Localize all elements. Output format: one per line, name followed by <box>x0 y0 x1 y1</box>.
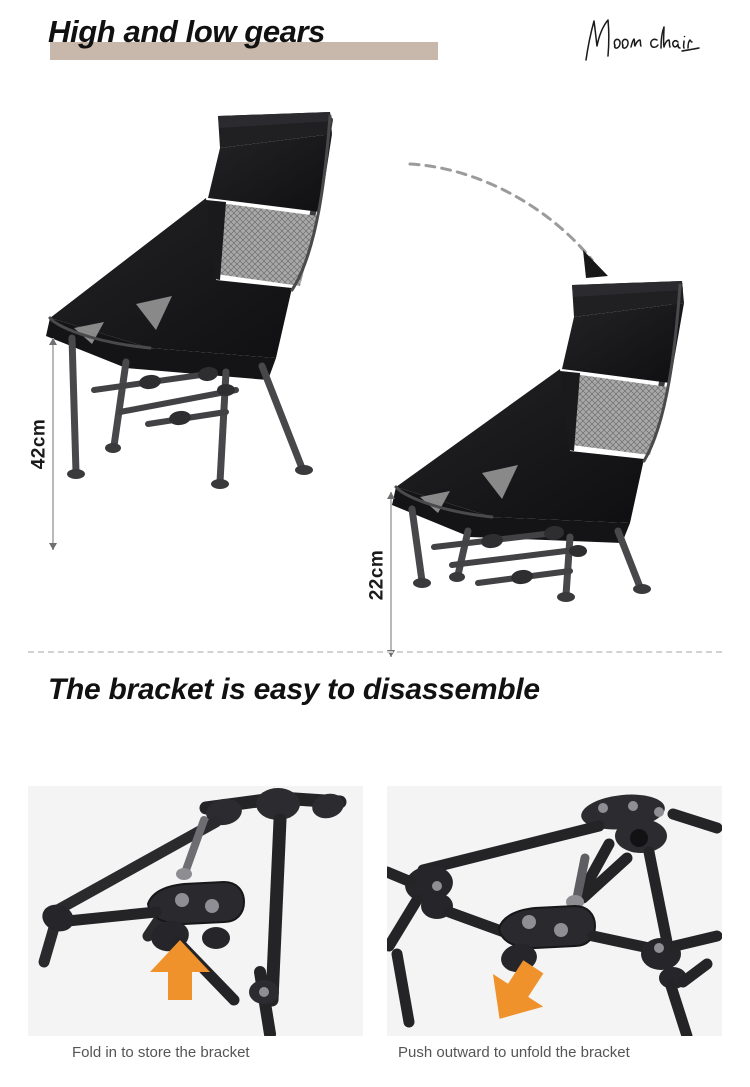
brand-logo <box>578 14 708 66</box>
section-divider <box>28 651 722 653</box>
arrow-down-icon <box>49 543 57 550</box>
transition-arrow-icon <box>400 138 650 298</box>
arrow-up-icon <box>49 338 57 345</box>
page-title: High and low gears <box>48 12 325 52</box>
section-one-title-wrap: High and low gears <box>48 12 325 52</box>
dimension-22cm: 22cm <box>386 492 396 657</box>
photo-captions: Fold in to store the bracket Push outwar… <box>28 1044 722 1074</box>
dimension-label: 22cm <box>366 549 388 600</box>
chair-high-gear-image <box>30 90 360 490</box>
bracket-folded-photo <box>28 786 363 1036</box>
chair-comparison-stage: 42cm 22cm <box>0 80 750 625</box>
section-two-heading: The bracket is easy to disassemble <box>48 668 568 712</box>
chair-low-gear-image <box>382 265 712 610</box>
section-one-header: High and low gears <box>0 0 750 80</box>
dimension-label: 42cm <box>28 419 50 470</box>
arrow-up-icon <box>387 492 395 499</box>
caption-push-outward: Push outward to unfold the bracket <box>398 1044 630 1061</box>
bracket-unfolded-photo <box>387 786 722 1036</box>
dimension-42cm: 42cm <box>48 338 58 550</box>
caption-fold-in: Fold in to store the bracket <box>72 1044 250 1061</box>
dimension-line <box>390 492 392 657</box>
bracket-photo-row <box>28 786 722 1036</box>
product-detail-page: High and low gears <box>0 0 750 1087</box>
dimension-line <box>52 338 54 550</box>
